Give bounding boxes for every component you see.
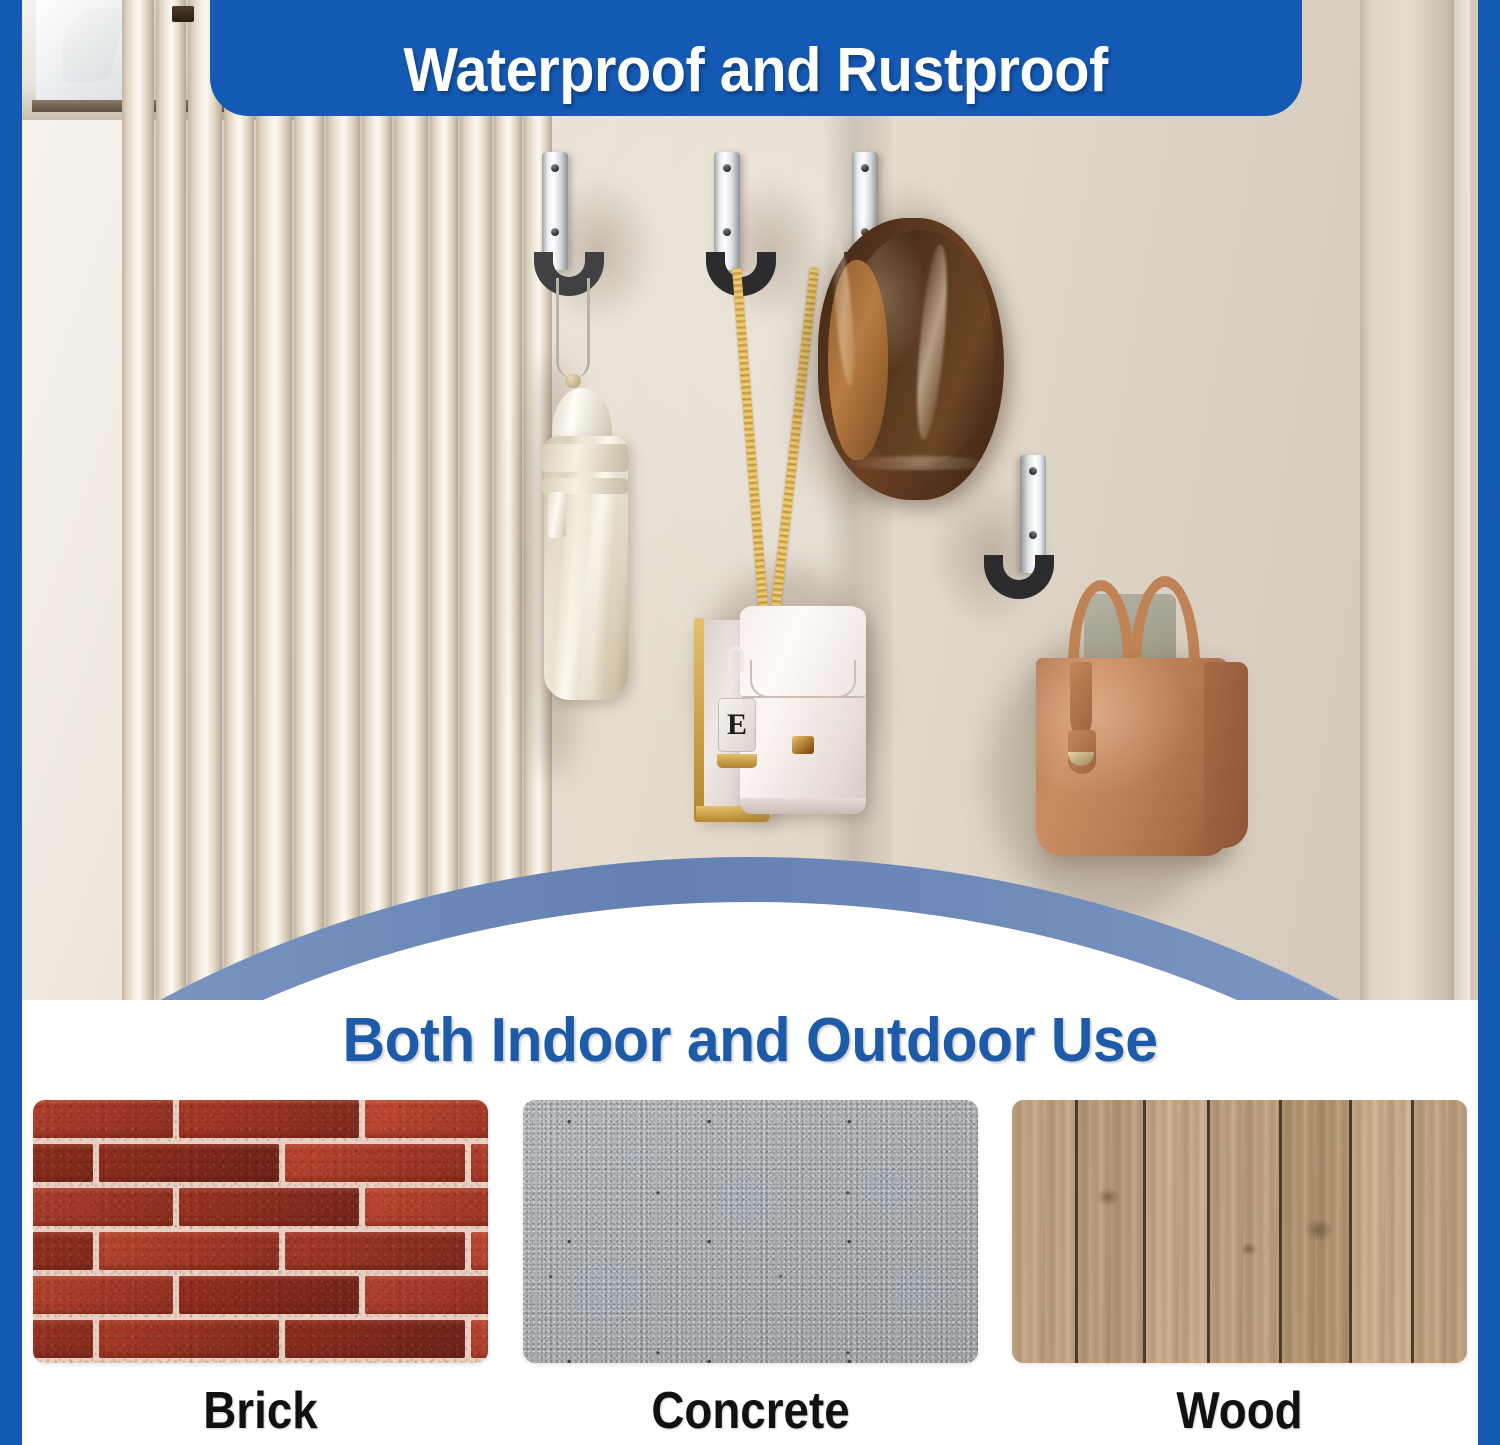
swatch-item-wood: Wood bbox=[1012, 1100, 1467, 1440]
hat-highlight bbox=[844, 456, 994, 470]
screw-hole bbox=[723, 164, 731, 172]
product-feature-card: E bbox=[0, 0, 1500, 1445]
tote-side-panel bbox=[1204, 662, 1248, 848]
vertical-blinds bbox=[122, 0, 552, 1000]
screw-hole bbox=[551, 164, 559, 172]
concrete-specks bbox=[523, 1100, 978, 1363]
wood-plank bbox=[1210, 1100, 1282, 1363]
brick-swatch-image bbox=[33, 1100, 488, 1363]
swatch-label-brick: Brick bbox=[60, 1381, 460, 1441]
hero-photo: E bbox=[22, 0, 1478, 1000]
section-subtitle: Both Indoor and Outdoor Use bbox=[58, 1005, 1441, 1076]
bag-flap-seam bbox=[750, 660, 856, 698]
swatch-label-concrete: Concrete bbox=[550, 1381, 950, 1441]
left-border bbox=[0, 0, 22, 1445]
bag-tag-loop bbox=[728, 646, 744, 672]
swatch-item-brick: Brick bbox=[33, 1100, 488, 1440]
tote-front-tab bbox=[1070, 662, 1092, 738]
screw-hole bbox=[1029, 531, 1037, 539]
bag-monogram-tag: E bbox=[718, 698, 756, 752]
header-banner: Waterproof and Rustproof bbox=[210, 0, 1302, 116]
door-frame-edge bbox=[1360, 0, 1456, 1000]
umbrella-tag bbox=[548, 492, 566, 538]
bag-bottom-edge bbox=[740, 798, 866, 814]
material-swatch-row: Brick Concrete bbox=[22, 1100, 1478, 1440]
swatch-label-wood: Wood bbox=[1039, 1381, 1439, 1441]
wood-plank bbox=[1012, 1100, 1078, 1363]
banner-title: Waterproof and Rustproof bbox=[404, 35, 1108, 106]
brick-grain bbox=[33, 1100, 488, 1363]
bag-clasp bbox=[792, 736, 814, 754]
door-frame-trim bbox=[1454, 0, 1470, 1000]
screw-hole bbox=[1029, 467, 1037, 475]
umbrella-sleeve bbox=[544, 436, 628, 700]
wood-swatch-image bbox=[1012, 1100, 1467, 1363]
wood-plank bbox=[1414, 1100, 1467, 1363]
brick-texture bbox=[33, 1100, 488, 1363]
umbrella-bead bbox=[565, 374, 581, 388]
screw-hole bbox=[723, 228, 731, 236]
swatch-item-concrete: Concrete bbox=[523, 1100, 978, 1440]
umbrella-strap bbox=[556, 278, 590, 378]
tote-body bbox=[1036, 658, 1228, 856]
wood-texture bbox=[1012, 1100, 1467, 1363]
wood-plank bbox=[1078, 1100, 1146, 1363]
wood-plank bbox=[1146, 1100, 1210, 1363]
concrete-swatch-image bbox=[523, 1100, 978, 1363]
umbrella-band bbox=[542, 444, 628, 472]
bottom-section: Both Indoor and Outdoor Use bbox=[22, 1000, 1478, 1445]
wood-plank bbox=[1352, 1100, 1414, 1363]
wood-plank bbox=[1282, 1100, 1352, 1363]
right-border bbox=[1478, 0, 1500, 1445]
bag-gold-edge bbox=[694, 618, 704, 822]
screw-hole bbox=[861, 164, 869, 172]
screw-hole bbox=[551, 228, 559, 236]
bag-tag-base bbox=[717, 754, 757, 768]
